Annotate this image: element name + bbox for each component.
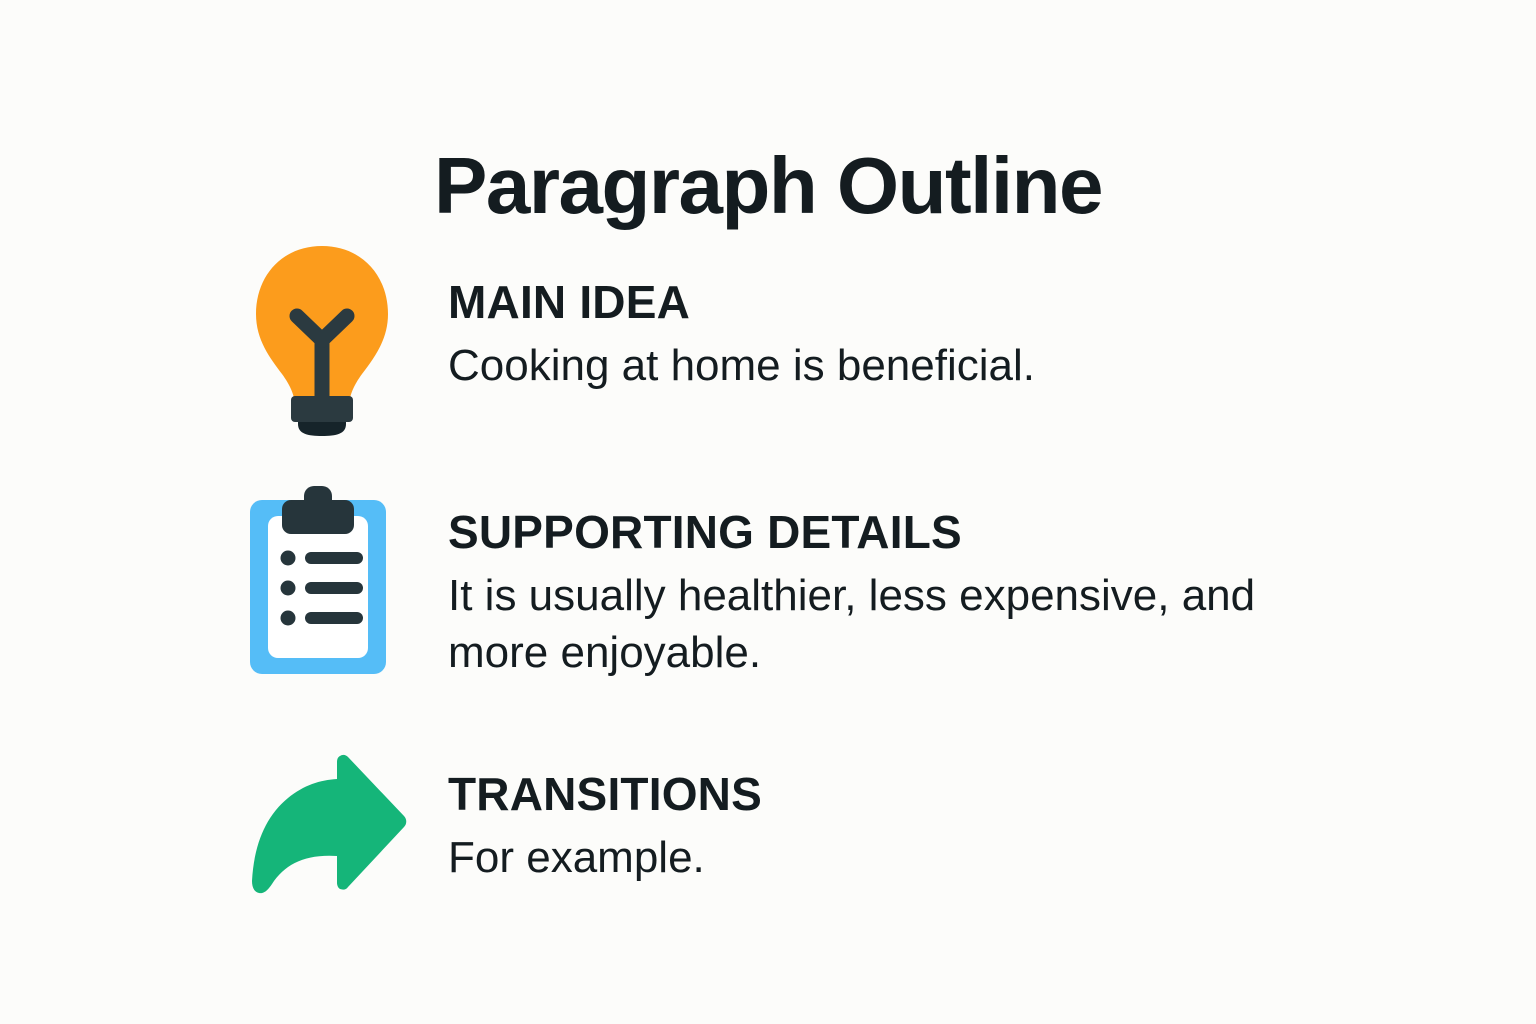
section-text-wrapper: MAIN IDEA Cooking at home is beneficial. — [448, 236, 1428, 395]
section-icon-wrapper — [248, 744, 448, 896]
section-text-wrapper: SUPPORTING DETAILS It is usually healthi… — [448, 486, 1428, 681]
section-text-wrapper: TRANSITIONS For example. — [448, 744, 1428, 887]
clipboard-checklist-icon — [248, 486, 388, 676]
curved-arrow-right-icon — [248, 754, 408, 896]
page-title: Paragraph Outline — [0, 146, 1536, 226]
section-icon-wrapper — [248, 486, 448, 676]
outline-section-transitions: TRANSITIONS For example. — [248, 744, 1428, 924]
lightbulb-icon — [248, 244, 396, 436]
section-heading-transitions: TRANSITIONS — [448, 770, 1428, 818]
outline-list: MAIN IDEA Cooking at home is beneficial. — [248, 236, 1428, 924]
section-heading-supporting-details: SUPPORTING DETAILS — [448, 508, 1428, 556]
paragraph-outline-page: Paragraph Outline — [0, 0, 1536, 1024]
section-body-supporting-details: It is usually healthier, less expensive,… — [448, 568, 1348, 681]
section-body-transitions: For example. — [448, 830, 1348, 886]
section-body-main-idea: Cooking at home is beneficial. — [448, 338, 1348, 394]
outline-section-supporting-details: SUPPORTING DETAILS It is usually healthi… — [248, 486, 1428, 744]
outline-section-main-idea: MAIN IDEA Cooking at home is beneficial. — [248, 236, 1428, 486]
section-icon-wrapper — [248, 236, 448, 436]
section-heading-main-idea: MAIN IDEA — [448, 278, 1428, 326]
